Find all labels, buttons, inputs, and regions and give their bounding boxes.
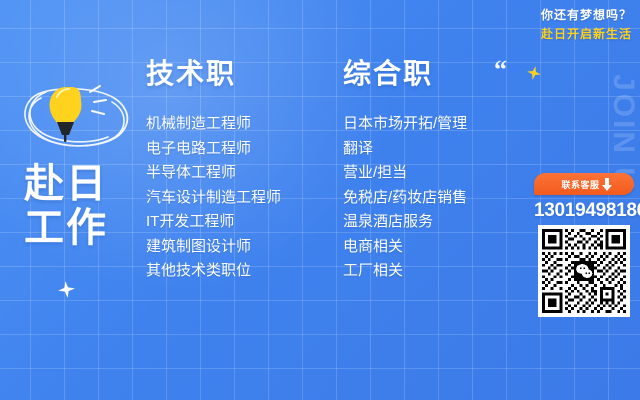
contact-support-label: 联系客服	[561, 178, 599, 191]
phone-number[interactable]: 13019498186	[534, 200, 634, 222]
list-item: 工厂相关	[343, 259, 538, 284]
sparkle-star-icon-white	[57, 280, 76, 299]
lightbulb-icon	[16, 78, 138, 156]
brand-title-line1: 赴日	[24, 162, 144, 206]
brand-title-line2: 工作	[24, 206, 144, 250]
list-item: 日本市场开拓/管理	[343, 112, 538, 137]
list-item: 营业/担当	[343, 161, 538, 186]
slogan-group: 你还有梦想吗？ 赴日开启新生活	[541, 6, 632, 44]
job-list-tech: 机械制造工程师 电子电路工程师 半导体工程师 汽车设计制造工程师 IT开发工程师…	[146, 112, 336, 284]
list-item: IT开发工程师	[146, 210, 336, 235]
contact-block: 联系客服 13019498186	[534, 173, 634, 317]
page-title: 赴日 工作	[24, 162, 144, 250]
job-column-tech: 技术职 机械制造工程师 电子电路工程师 半导体工程师 汽车设计制造工程师 IT开…	[146, 58, 336, 284]
list-item: 电子电路工程师	[146, 137, 336, 162]
column-title-tech: 技术职	[146, 58, 336, 90]
promo-banner: JOIN U 你还有梦想吗？ 赴日开启新生活 “	[0, 0, 640, 400]
list-item: 建筑制图设计师	[146, 235, 336, 260]
list-item: 机械制造工程师	[146, 112, 336, 137]
list-item: 温泉酒店服务	[343, 210, 538, 235]
list-item: 翻译	[343, 137, 538, 162]
list-item: 电商相关	[343, 235, 538, 260]
job-column-general: 综合职 日本市场开拓/管理 翻译 营业/担当 免税店/药妆店销售 温泉酒店服务 …	[343, 58, 538, 284]
list-item: 汽车设计制造工程师	[146, 186, 336, 211]
lightbulb-sketch-group	[16, 78, 138, 156]
qr-code-matrix	[542, 229, 626, 313]
column-title-general: 综合职	[343, 58, 538, 90]
contact-support-button[interactable]: 联系客服	[534, 173, 634, 195]
list-item: 半导体工程师	[146, 161, 336, 186]
job-list-general: 日本市场开拓/管理 翻译 营业/担当 免税店/药妆店销售 温泉酒店服务 电商相关…	[343, 112, 538, 284]
list-item: 免税店/药妆店销售	[343, 186, 538, 211]
slogan-question: 你还有梦想吗？	[541, 6, 632, 25]
list-item: 其他技术类职位	[146, 259, 336, 284]
brand-block: 赴日 工作	[14, 78, 144, 250]
slogan-highlight: 赴日开启新生活	[541, 25, 632, 44]
qr-code-wechat-icon[interactable]	[538, 225, 630, 317]
